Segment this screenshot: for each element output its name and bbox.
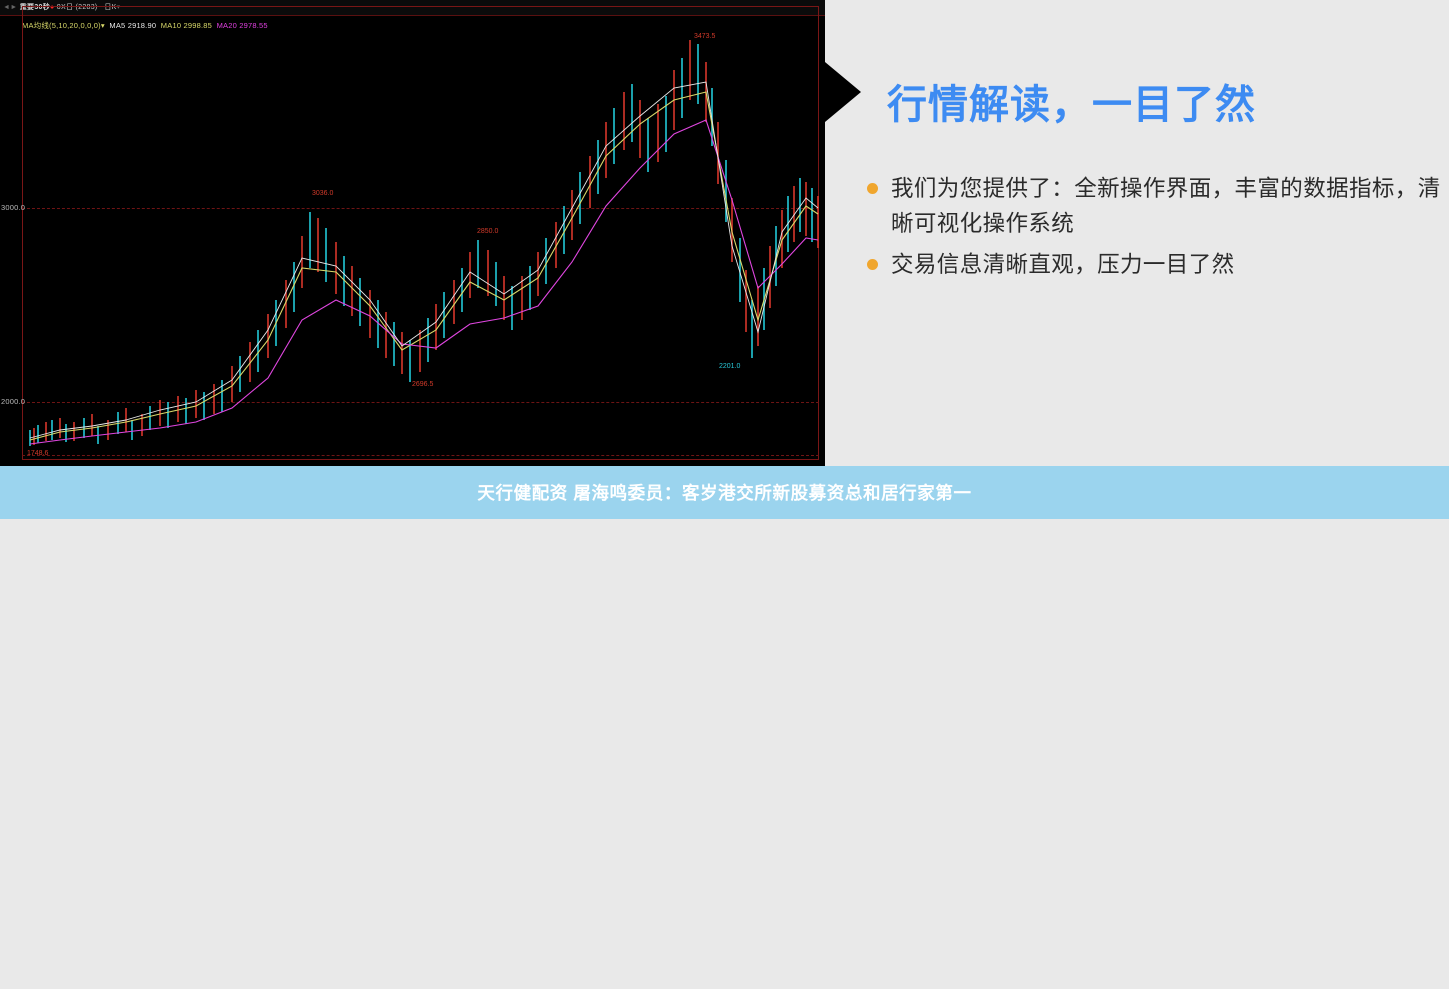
kchart-series — [0, 0, 825, 466]
top-bullet-list: 我们为您提供了：全新操作界面，丰富的数据指标，清晰可视化操作系统 交易信息清晰直… — [867, 172, 1447, 289]
bullet-text: 交易信息清晰直观，压力一目了然 — [891, 248, 1235, 283]
bullet-dot-icon — [867, 183, 878, 194]
bullet-dot-icon — [867, 259, 878, 270]
bullet-text: 我们为您提供了：全新操作界面，丰富的数据指标，清晰可视化操作系统 — [891, 172, 1447, 242]
article-banner: 天行健配资 屠海鸣委员：客岁港交所新股募资总和居行家第一 — [0, 466, 1449, 519]
list-item: 我们为您提供了：全新操作界面，丰富的数据指标，清晰可视化操作系统 — [867, 172, 1447, 242]
top-section: ◄► 重要30秒● 0X日 (2283) 日K▾ MA均线(5,10,20,0,… — [0, 0, 1449, 466]
pointer-arrow-left-icon — [825, 62, 861, 122]
bottom-section: 助力多空决策 24小时免费提供实时数据，值得信赖 多空对比实时监控，超买超卖尽在… — [0, 519, 1449, 989]
banner-title: 天行健配资 屠海鸣委员：客岁港交所新股募资总和居行家第一 — [477, 480, 971, 505]
top-heading: 行情解读，一目了然 — [887, 72, 1256, 130]
list-item: 交易信息清晰直观，压力一目了然 — [867, 248, 1447, 283]
top-text-panel: 行情解读，一目了然 我们为您提供了：全新操作界面，丰富的数据指标，清晰可视化操作… — [825, 0, 1449, 466]
kline-chart-screenshot: ◄► 重要30秒● 0X日 (2283) 日K▾ MA均线(5,10,20,0,… — [0, 0, 825, 466]
slide-page: ◄► 重要30秒● 0X日 (2283) 日K▾ MA均线(5,10,20,0,… — [0, 0, 1449, 989]
